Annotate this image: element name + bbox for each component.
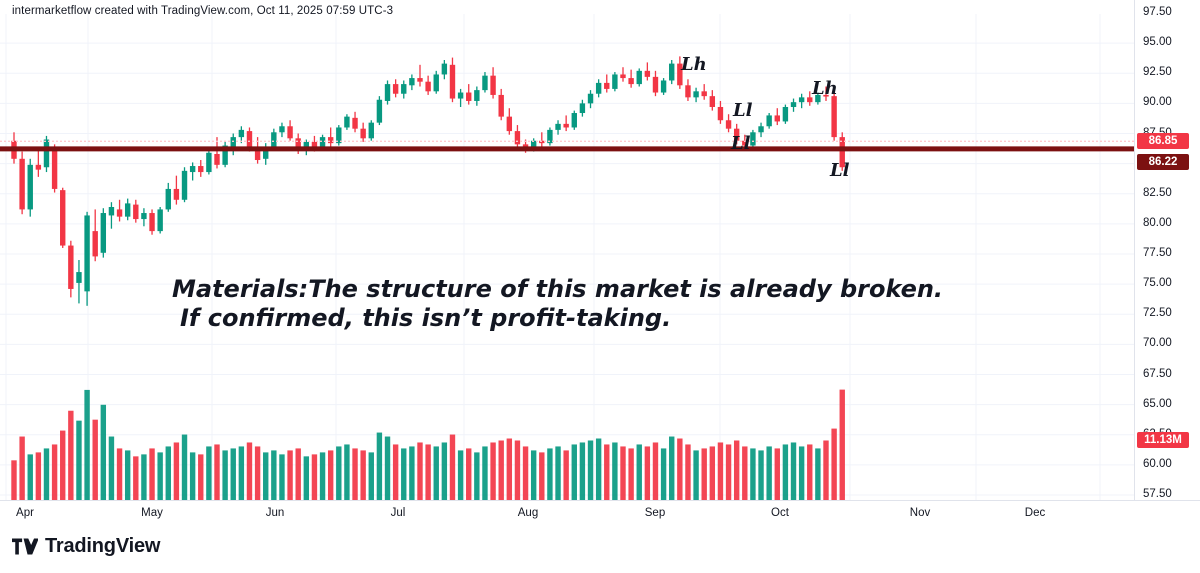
time-tick: Jul [391, 507, 406, 519]
price-tick: 82.50 [1143, 187, 1172, 199]
price-tick: 72.50 [1143, 307, 1172, 319]
grid-lines [0, 14, 1134, 500]
swing-label-lh-4: Lh [812, 78, 838, 99]
chart-canvas [0, 14, 1134, 500]
swing-label-ll-5: Ll [830, 160, 850, 181]
price-tick: 80.00 [1143, 217, 1172, 229]
last-price-badge[interactable]: 86.85 [1137, 133, 1189, 149]
time-tick: May [141, 507, 163, 519]
chart-note-line-1: Materials:The structure of this market i… [172, 274, 943, 304]
price-tick: 92.50 [1143, 66, 1172, 78]
price-tick: 90.00 [1143, 96, 1172, 108]
price-tick: 75.00 [1143, 277, 1172, 289]
time-tick: Apr [16, 507, 34, 519]
tradingview-chart-screenshot: intermarketflow created with TradingView… [0, 0, 1200, 573]
time-tick: Oct [771, 507, 789, 519]
swing-label-lh-1: Lh [681, 54, 707, 75]
swing-label-ll-2: Ll [733, 100, 753, 121]
price-tick: 57.50 [1143, 488, 1172, 500]
footer-branding: TradingView [12, 535, 160, 558]
price-tick: 70.00 [1143, 337, 1172, 349]
time-tick: Nov [910, 507, 930, 519]
volume-badge[interactable]: 11.13M [1137, 432, 1189, 448]
price-scale[interactable]: 97.5095.0092.5090.0087.5085.0082.5080.00… [1134, 0, 1200, 500]
time-tick: Sep [645, 507, 665, 519]
swing-label-ll-3: Ll [731, 133, 751, 154]
horizontal-price-lines [0, 141, 1134, 149]
support-price-badge[interactable]: 86.22 [1137, 154, 1189, 170]
price-tick: 97.50 [1143, 6, 1172, 18]
time-tick: Aug [518, 507, 538, 519]
time-tick: Dec [1025, 507, 1045, 519]
tradingview-logo-icon [12, 538, 38, 555]
time-tick: Jun [266, 507, 285, 519]
price-tick: 95.00 [1143, 36, 1172, 48]
price-tick: 67.50 [1143, 368, 1172, 380]
chart-plot-area[interactable] [0, 14, 1134, 500]
price-tick: 60.00 [1143, 458, 1172, 470]
price-tick: 65.00 [1143, 398, 1172, 410]
chart-note-line-2: If confirmed, this isn’t profit-taking. [180, 303, 671, 333]
price-tick: 77.50 [1143, 247, 1172, 259]
time-scale[interactable]: AprMayJunJulAugSepOctNovDec [0, 500, 1200, 529]
tradingview-wordmark: TradingView [45, 535, 160, 558]
